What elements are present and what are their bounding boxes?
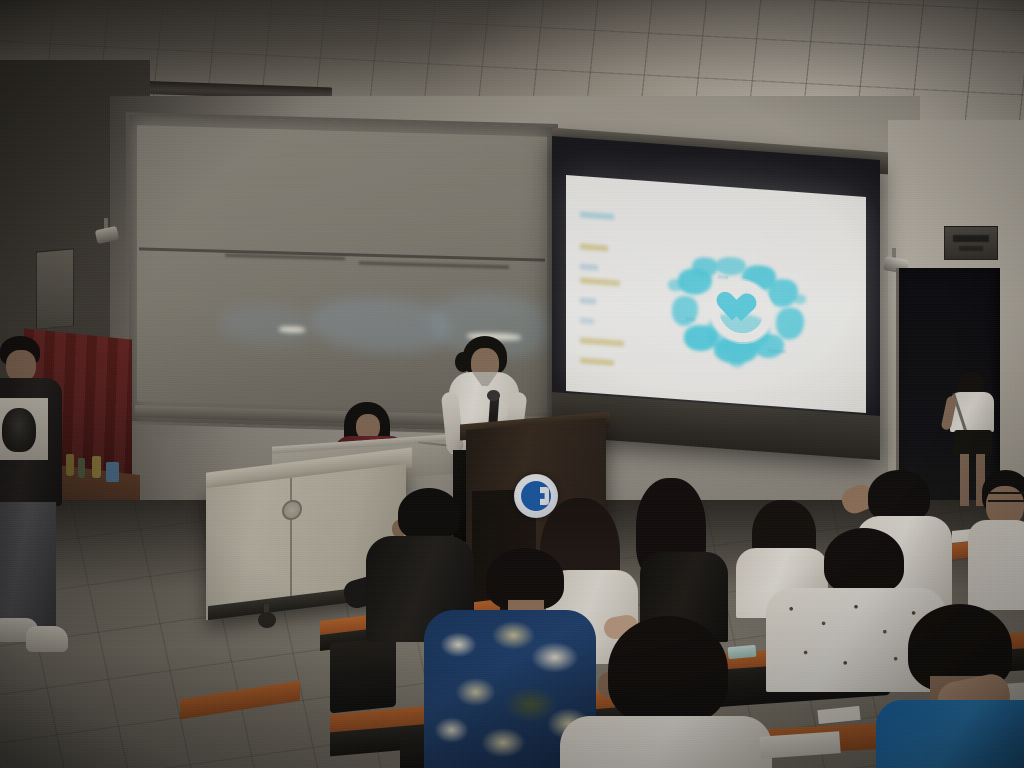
standing-man-jeans — [0, 502, 56, 630]
student-glasses-body — [968, 520, 1024, 610]
chair-back — [330, 637, 396, 714]
bottle — [92, 456, 101, 478]
eyeglasses-icon — [988, 492, 1024, 502]
whiteboard-glare — [279, 326, 305, 333]
student-hand-on-head-hair — [868, 470, 930, 522]
microphone-head — [487, 390, 500, 401]
classroom-photo: love you forever — [0, 0, 1024, 768]
slide-splatter-word: love — [718, 274, 729, 281]
student-foreground-body — [560, 716, 772, 768]
bottle — [66, 454, 74, 476]
student-speckled-shirt-hair — [824, 528, 904, 594]
doorway-person-leg — [960, 454, 969, 506]
slide-splatter-word: you — [686, 316, 695, 323]
cup — [106, 462, 119, 482]
phone — [728, 645, 757, 659]
standing-man-shoe — [26, 626, 68, 652]
student-foreground-hair — [608, 616, 728, 724]
heart-icon — [724, 293, 758, 329]
slide-text-line — [580, 277, 620, 286]
bottle — [78, 458, 85, 478]
emblem-glyph — [531, 489, 540, 503]
slide-text-line — [580, 317, 594, 324]
slide-text-line — [580, 337, 624, 346]
slide-splatter-graphic: love you forever — [672, 253, 808, 375]
student-blue-polo-body — [876, 700, 1024, 768]
slide-text-line — [580, 297, 596, 304]
av-cabinet-door-seam — [290, 478, 292, 604]
slide-splatter-word: forever — [768, 348, 786, 355]
presenter-hair-bun — [455, 352, 471, 372]
door-sign — [944, 226, 998, 260]
student-black-tee-hair — [398, 488, 460, 540]
av-cabinet-caster — [258, 612, 276, 628]
slide-text-line — [580, 263, 598, 270]
tshirt-graphic-face — [2, 408, 36, 452]
slide-text-line — [580, 243, 608, 251]
doorway-person-shorts — [954, 430, 992, 456]
door-sign-text-line — [959, 246, 983, 251]
slide-text-block — [580, 211, 650, 384]
slide-text-line — [580, 211, 614, 219]
wall-notice-board — [36, 248, 74, 329]
door-sign-text-line — [953, 235, 989, 242]
slide-text-line — [580, 357, 614, 365]
